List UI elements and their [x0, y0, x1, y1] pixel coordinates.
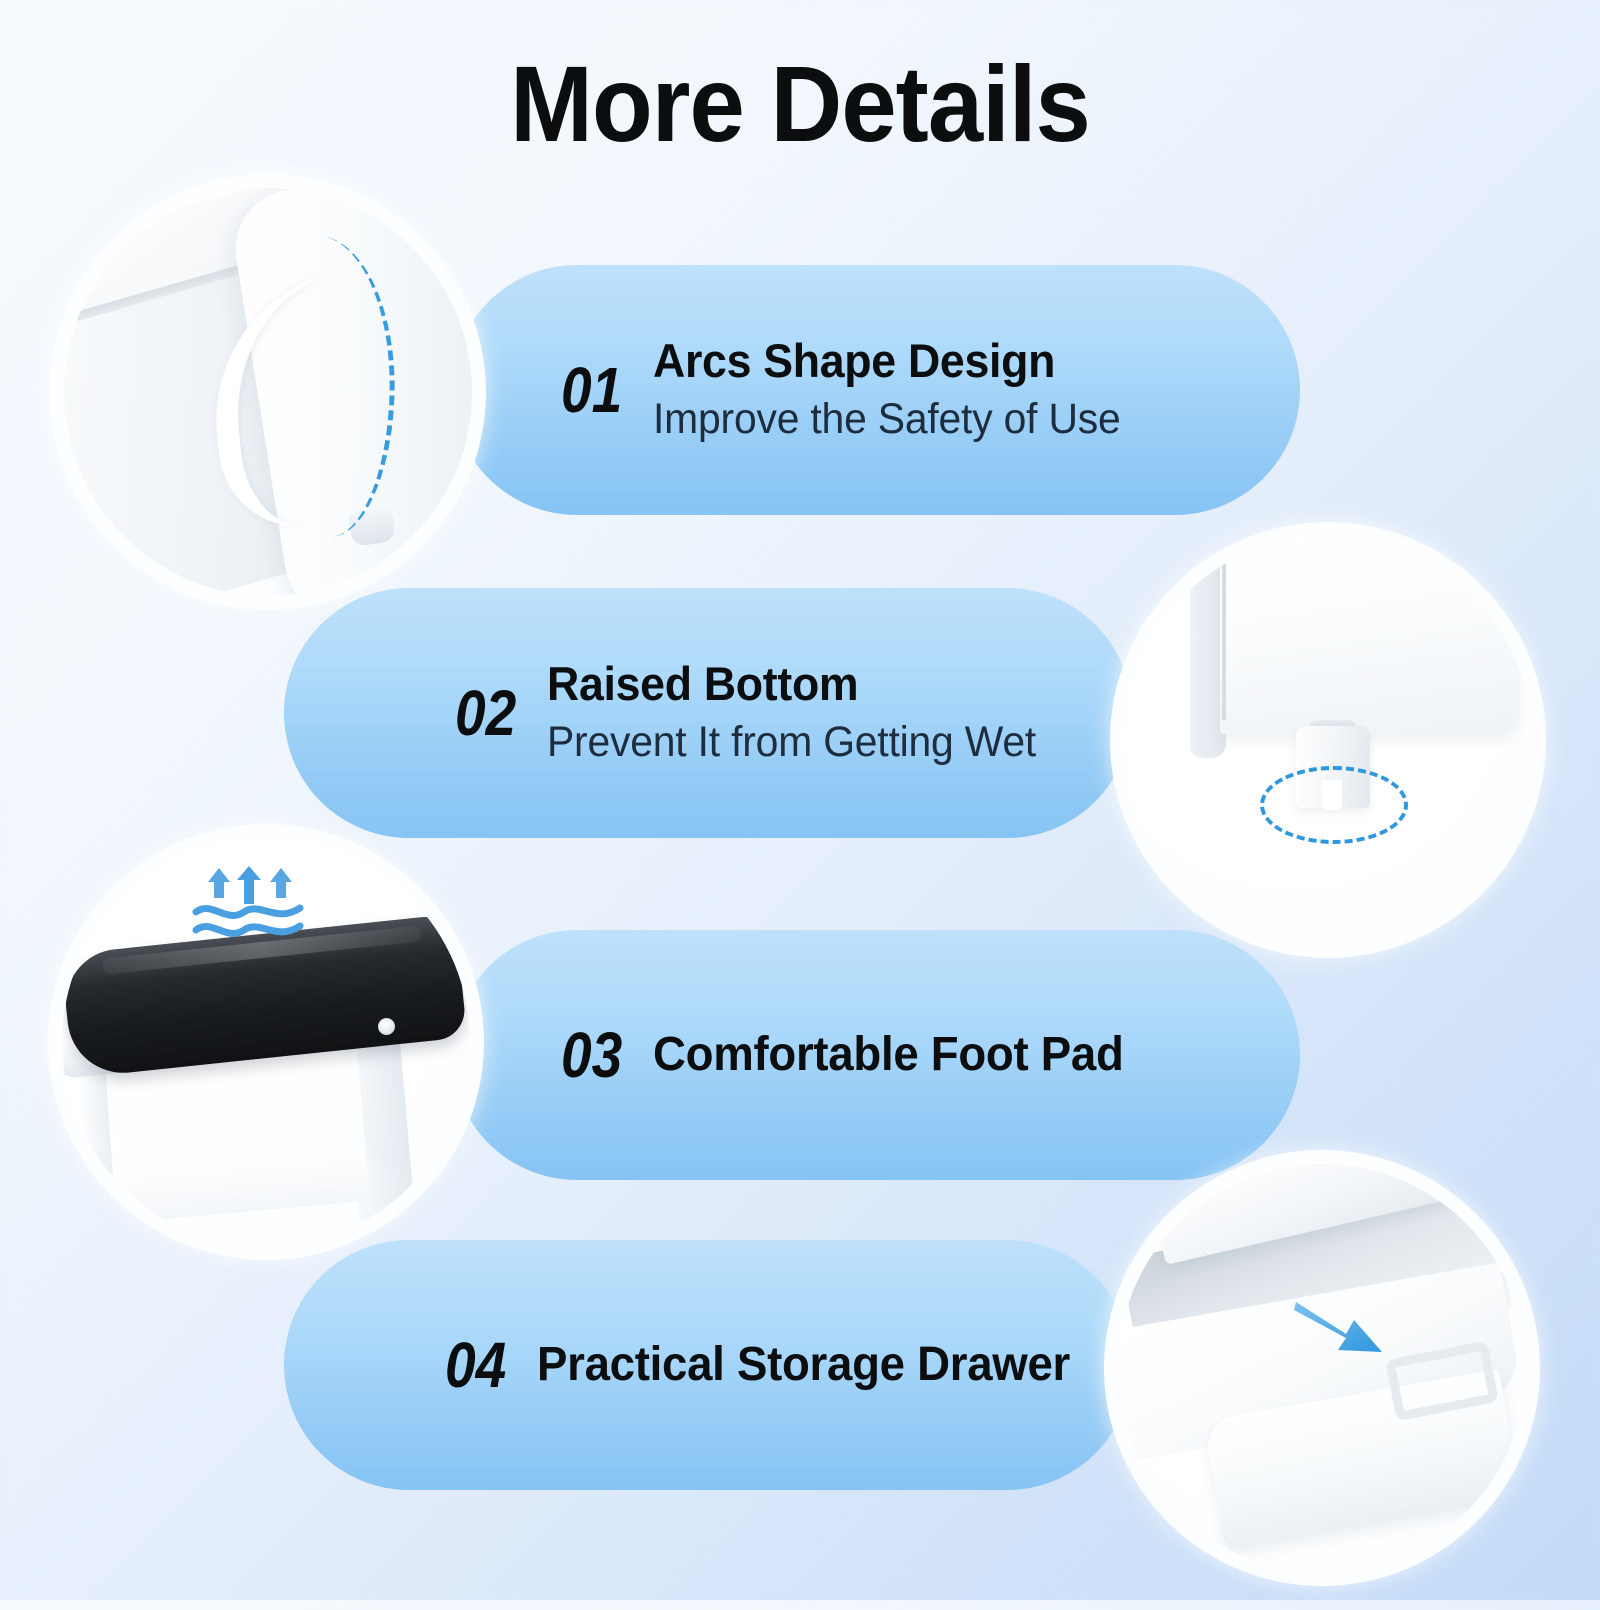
feature-number-1: 01: [561, 358, 622, 422]
breathable-waves-icon: [188, 864, 308, 942]
feature-title-3: Comfortable Foot Pad: [653, 1026, 1124, 1085]
feature-text-4: 04 Practical Storage Drawer: [440, 1240, 1098, 1490]
feature-number-4: 04: [445, 1333, 506, 1397]
feature-number-3: 03: [561, 1023, 622, 1087]
feature-subtitle-1: Improve the Safety of Use: [653, 392, 1121, 448]
panel-seam-line: [1222, 540, 1226, 720]
feature-text-2: 02 Raised Bottom Prevent It from Getting…: [450, 588, 1062, 838]
feature-row-4: 04 Practical Storage Drawer: [0, 1140, 1600, 1610]
storage-drawer-photo: [1118, 1164, 1526, 1572]
pull-arrow-icon: [1294, 1300, 1386, 1358]
feature-title-1: Arcs Shape Design: [653, 332, 1121, 389]
feature-text-1: 01 Arcs Shape Design Improve the Safety …: [556, 265, 1145, 515]
feature-title-4: Practical Storage Drawer: [537, 1336, 1070, 1395]
feature-number-2: 02: [455, 681, 516, 745]
frame-screw: [378, 1018, 395, 1035]
page-title: More Details: [64, 46, 1536, 163]
feature-subtitle-2: Prevent It from Getting Wet: [547, 715, 1036, 771]
feature-title-2: Raised Bottom: [547, 655, 1036, 712]
cabinet-bottom-panel: [1220, 538, 1520, 734]
